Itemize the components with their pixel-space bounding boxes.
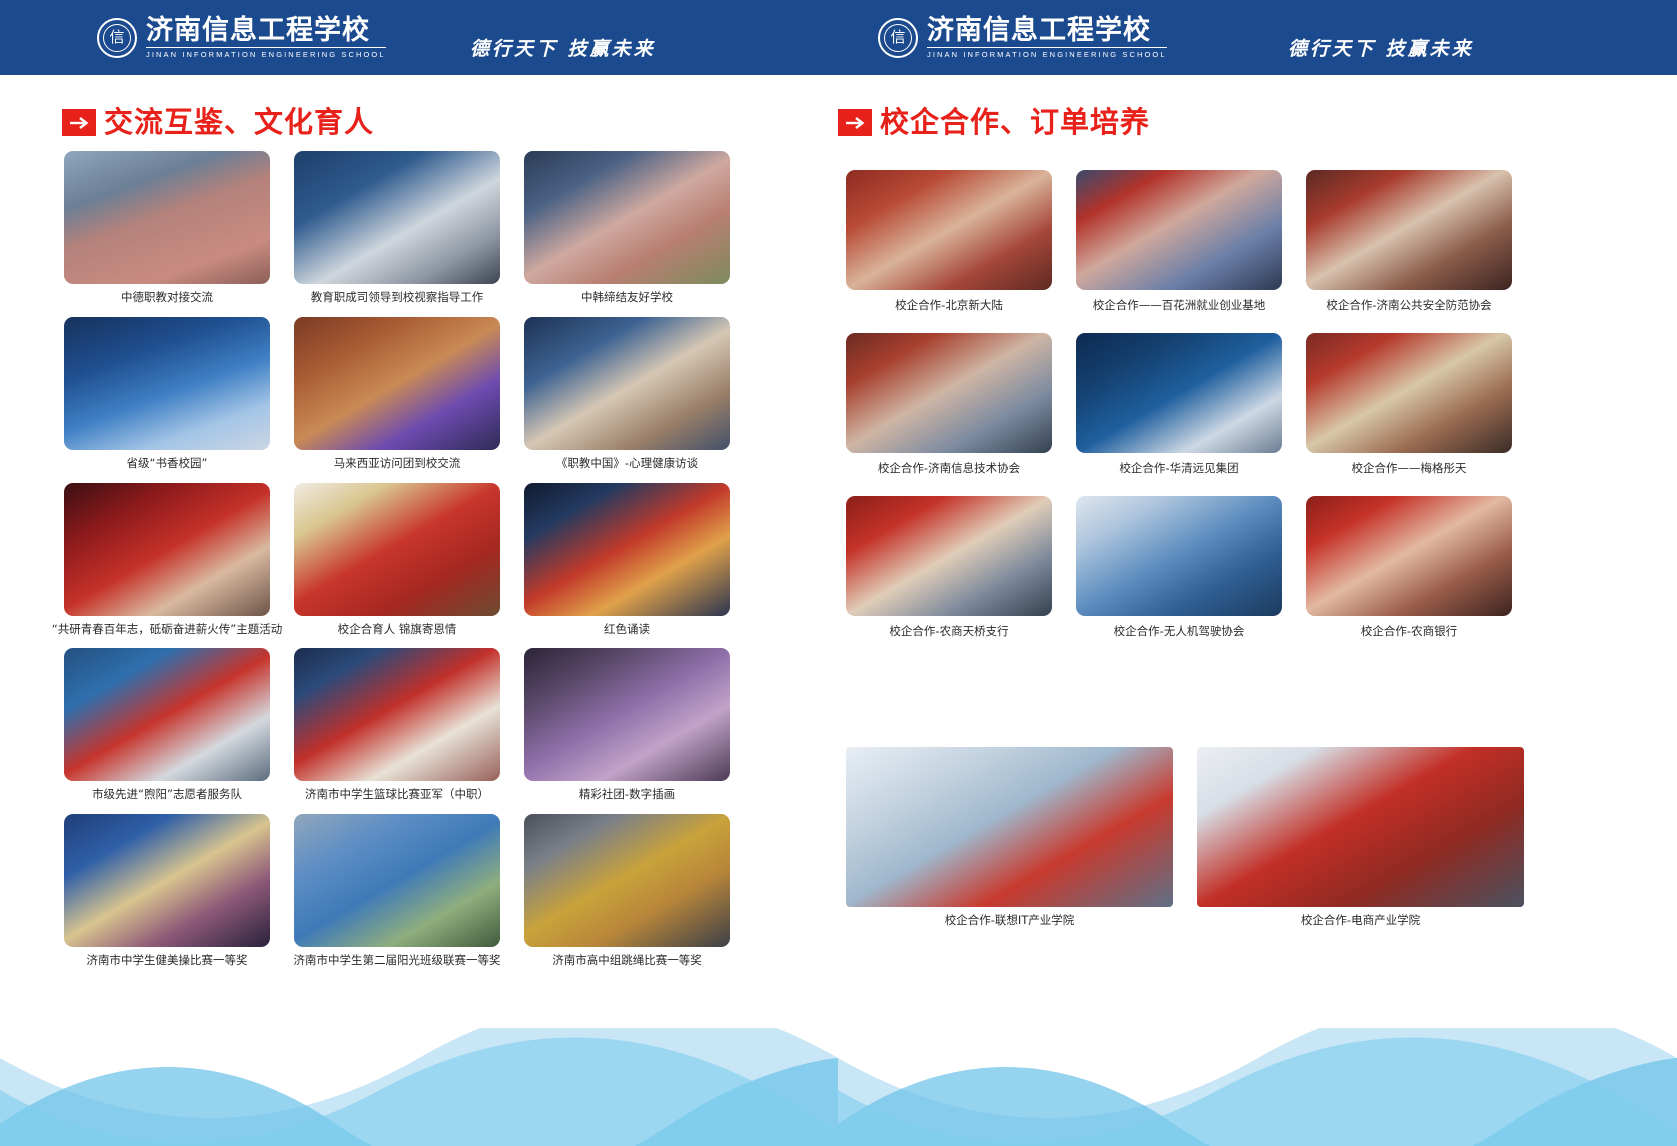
arrow-right-icon [62, 109, 96, 136]
header-slogan-right: 德行天下 技赢未来 [1288, 34, 1474, 61]
photo-thumbnail[interactable] [846, 496, 1052, 616]
photo-thumbnail[interactable] [524, 648, 730, 781]
photo-thumbnail[interactable] [64, 648, 270, 781]
logo-name-cn: 济南信息工程学校 [927, 17, 1167, 48]
photo-cell[interactable]: 校企合作-农商天桥支行 [846, 496, 1052, 639]
photo-cell[interactable]: 校企合作-济南信息技术协会 [846, 333, 1052, 476]
header-left-half: 信 济南信息工程学校 JINAN INFORMATION ENGINEERING… [0, 0, 838, 75]
photo-thumbnail[interactable] [1306, 496, 1512, 616]
photo-cell[interactable]: 精彩社团-数字插画 [524, 648, 730, 802]
photo-cell[interactable]: 济南市中学生第二届阳光班级联赛一等奖 [294, 814, 500, 968]
logo-name-en: JINAN INFORMATION ENGINEERING SCHOOL [927, 51, 1167, 59]
right-section-heading: 校企合作、订单培养 [838, 108, 1150, 137]
photo-caption: 中德职教对接交流 [121, 291, 213, 305]
photo-cell[interactable]: 马来西亚访问团到校交流 [294, 317, 500, 471]
photo-thumbnail[interactable] [1306, 170, 1512, 290]
logo-text-left: 济南信息工程学校 JINAN INFORMATION ENGINEERING S… [146, 17, 386, 59]
photo-caption: 中韩缔结友好学校 [581, 291, 673, 305]
logo-name-cn: 济南信息工程学校 [146, 17, 386, 48]
right-wide-photo-row: 校企合作-联想IT产业学院 校企合作-电商产业学院 [846, 747, 1524, 928]
photo-caption: 省级“书香校园” [127, 457, 208, 471]
photo-caption: 校企合作-济南公共安全防范协会 [1326, 299, 1491, 313]
photo-thumbnail[interactable] [846, 170, 1052, 290]
photo-thumbnail[interactable] [294, 648, 500, 781]
photo-cell[interactable]: 济南市中学生篮球比赛亚军（中职） [294, 648, 500, 802]
photo-thumbnail[interactable] [294, 483, 500, 616]
photo-caption: 红色诵读 [604, 623, 650, 637]
photo-cell[interactable]: 市级先进“煦阳”志愿者服务队 [64, 648, 270, 802]
photo-caption: 校企合作-华清远见集团 [1119, 462, 1238, 476]
photo-caption: 校企合作-济南信息技术协会 [878, 462, 1020, 476]
photo-caption: 校企合作-联想IT产业学院 [945, 914, 1075, 928]
photo-cell[interactable]: 校企合育人 锦旗寄恩情 [294, 483, 500, 637]
left-section-heading: 交流互鉴、文化育人 [62, 108, 374, 137]
photo-thumbnail[interactable] [524, 317, 730, 450]
school-logo-right: 信 济南信息工程学校 JINAN INFORMATION ENGINEERING… [878, 17, 1167, 59]
photo-thumbnail[interactable] [1076, 333, 1282, 453]
photo-thumbnail[interactable] [1076, 496, 1282, 616]
logo-name-en: JINAN INFORMATION ENGINEERING SCHOOL [146, 51, 386, 59]
photo-caption: 马来西亚访问团到校交流 [334, 457, 461, 471]
photo-cell[interactable]: 校企合作-农商银行 [1306, 496, 1512, 639]
photo-cell[interactable]: 教育职成司领导到校视察指导工作 [294, 151, 500, 305]
seal-glyph: 信 [890, 30, 905, 45]
photo-cell[interactable]: 校企合作-电商产业学院 [1197, 747, 1524, 928]
photo-thumbnail[interactable] [294, 814, 500, 947]
wave-icon [0, 1028, 1677, 1146]
photo-caption: 校企合作-农商天桥支行 [889, 625, 1008, 639]
photo-caption: 济南市中学生篮球比赛亚军（中职） [305, 788, 489, 802]
photo-caption: 校企合育人 锦旗寄恩情 [338, 623, 457, 637]
photo-cell[interactable]: 中韩缔结友好学校 [524, 151, 730, 305]
left-photo-grid: 中德职教对接交流 教育职成司领导到校视察指导工作 中韩缔结友好学校 省级“书香校… [64, 151, 742, 968]
left-page: 交流互鉴、文化育人 中德职教对接交流 教育职成司领导到校视察指导工作 中韩缔结友… [0, 75, 838, 1146]
logo-text-right: 济南信息工程学校 JINAN INFORMATION ENGINEERING S… [927, 17, 1167, 59]
photo-cell[interactable]: “共研青春百年志，砥砺奋进薪火传”主题活动 [64, 483, 270, 637]
photo-cell[interactable]: 校企合作——梅格彤天 [1306, 333, 1512, 476]
spread-body: 交流互鉴、文化育人 中德职教对接交流 教育职成司领导到校视察指导工作 中韩缔结友… [0, 75, 1677, 1146]
photo-cell[interactable]: 校企合作-济南公共安全防范协会 [1306, 170, 1512, 313]
photo-thumbnail[interactable] [846, 747, 1173, 907]
photo-thumbnail[interactable] [294, 317, 500, 450]
footer-wave-decoration [0, 1028, 1677, 1146]
photo-thumbnail[interactable] [1076, 170, 1282, 290]
photo-caption: 校企合作-农商银行 [1361, 625, 1457, 639]
seal-glyph: 信 [109, 30, 124, 45]
photo-cell[interactable]: 校企合作-北京新大陆 [846, 170, 1052, 313]
photo-thumbnail[interactable] [64, 151, 270, 284]
photo-cell[interactable]: 省级“书香校园” [64, 317, 270, 471]
photo-thumbnail[interactable] [1306, 333, 1512, 453]
photo-caption: 教育职成司领导到校视察指导工作 [311, 291, 484, 305]
right-section-title: 校企合作、订单培养 [880, 108, 1150, 137]
photo-thumbnail[interactable] [294, 151, 500, 284]
photo-cell[interactable]: 校企合作-联想IT产业学院 [846, 747, 1173, 928]
photo-caption: 精彩社团-数字插画 [579, 788, 675, 802]
photo-caption: 校企合作——梅格彤天 [1352, 462, 1467, 476]
photo-cell[interactable]: 中德职教对接交流 [64, 151, 270, 305]
photo-cell[interactable]: 校企合作-无人机驾驶协会 [1076, 496, 1282, 639]
photo-thumbnail[interactable] [64, 483, 270, 616]
photo-caption: “共研青春百年志，砥砺奋进薪火传”主题活动 [52, 623, 282, 637]
photo-thumbnail[interactable] [64, 317, 270, 450]
photo-caption: 济南市中学生健美操比赛一等奖 [87, 954, 248, 968]
right-page: 校企合作、订单培养 校企合作-北京新大陆 校企合作——百花洲就业创业基地 校企合… [838, 75, 1677, 1146]
photo-cell[interactable]: 红色诵读 [524, 483, 730, 637]
page-header: 信 济南信息工程学校 JINAN INFORMATION ENGINEERING… [0, 0, 1677, 75]
photo-caption: 市级先进“煦阳”志愿者服务队 [92, 788, 242, 802]
photo-cell[interactable]: 《职教中国》-心理健康访谈 [524, 317, 730, 471]
photo-cell[interactable]: 校企合作——百花洲就业创业基地 [1076, 170, 1282, 313]
school-seal-icon: 信 [97, 18, 137, 58]
photo-thumbnail[interactable] [1197, 747, 1524, 907]
photo-caption: 校企合作-无人机驾驶协会 [1114, 625, 1245, 639]
photo-thumbnail[interactable] [846, 333, 1052, 453]
photo-cell[interactable]: 校企合作-华清远见集团 [1076, 333, 1282, 476]
photo-thumbnail[interactable] [524, 814, 730, 947]
photo-caption: 校企合作——百花洲就业创业基地 [1093, 299, 1266, 313]
photo-caption: 济南市高中组跳绳比赛一等奖 [552, 954, 702, 968]
photo-thumbnail[interactable] [524, 151, 730, 284]
header-slogan-left: 德行天下 技赢未来 [470, 34, 656, 61]
photo-caption: 济南市中学生第二届阳光班级联赛一等奖 [294, 954, 501, 968]
photo-caption: 校企合作-北京新大陆 [895, 299, 1003, 313]
photo-caption: 校企合作-电商产业学院 [1301, 914, 1420, 928]
left-section-title: 交流互鉴、文化育人 [104, 108, 374, 137]
school-logo-left: 信 济南信息工程学校 JINAN INFORMATION ENGINEERING… [97, 17, 386, 59]
photo-thumbnail[interactable] [524, 483, 730, 616]
right-photo-grid: 校企合作-北京新大陆 校企合作——百花洲就业创业基地 校企合作-济南公共安全防范… [846, 170, 1524, 638]
header-right-half: 信 济南信息工程学校 JINAN INFORMATION ENGINEERING… [838, 0, 1677, 75]
arrow-right-icon [838, 109, 872, 136]
photo-cell[interactable]: 济南市高中组跳绳比赛一等奖 [524, 814, 730, 968]
school-seal-icon: 信 [878, 18, 918, 58]
photo-caption: 《职教中国》-心理健康访谈 [556, 457, 698, 471]
photo-thumbnail[interactable] [64, 814, 270, 947]
photo-cell[interactable]: 济南市中学生健美操比赛一等奖 [64, 814, 270, 968]
